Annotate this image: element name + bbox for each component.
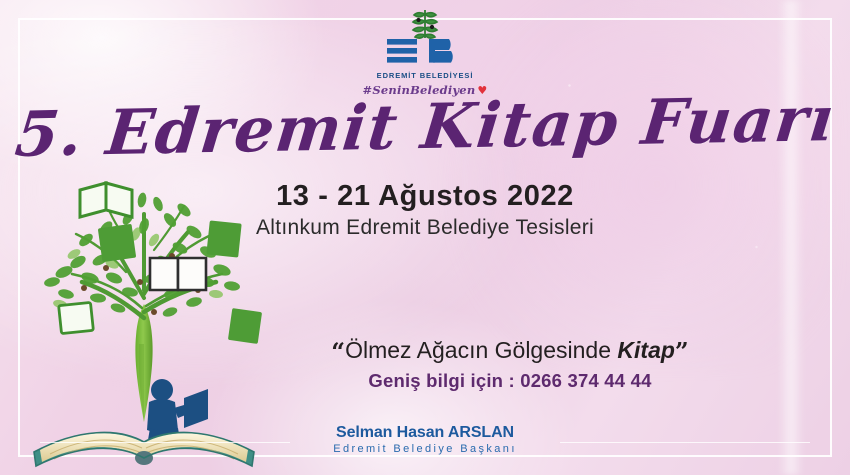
- quote-close-mark: ”: [675, 337, 689, 366]
- logo-organization-name: EDREMİT BELEDİYESİ: [377, 71, 474, 80]
- olive-tree-with-books-icon: [0, 122, 294, 475]
- quote-open-mark: “: [331, 337, 345, 366]
- eb-monogram-icon: [377, 8, 473, 70]
- event-slogan-quote: “Ölmez Ağacın Gölgesinde Kitap”: [215, 337, 805, 366]
- contact-line[interactable]: Geniş bilgi için : 0266 374 44 44: [215, 370, 805, 392]
- mayor-name: Selman Hasan ARSLAN: [0, 424, 850, 442]
- mayor-signature: Selman Hasan ARSLAN Edremit Belediye Baş…: [0, 424, 850, 455]
- poster-canvas: EDREMİT BELEDİYESİ #SeninBelediyen ♥ 5. …: [0, 0, 850, 475]
- quote-emphasis-word: Kitap: [617, 337, 675, 363]
- tree-illustration: [0, 122, 294, 475]
- quote-lead-text: Ölmez Ağacın Gölgesinde: [345, 337, 611, 363]
- mayor-role: Edremit Belediye Başkanı: [0, 443, 850, 455]
